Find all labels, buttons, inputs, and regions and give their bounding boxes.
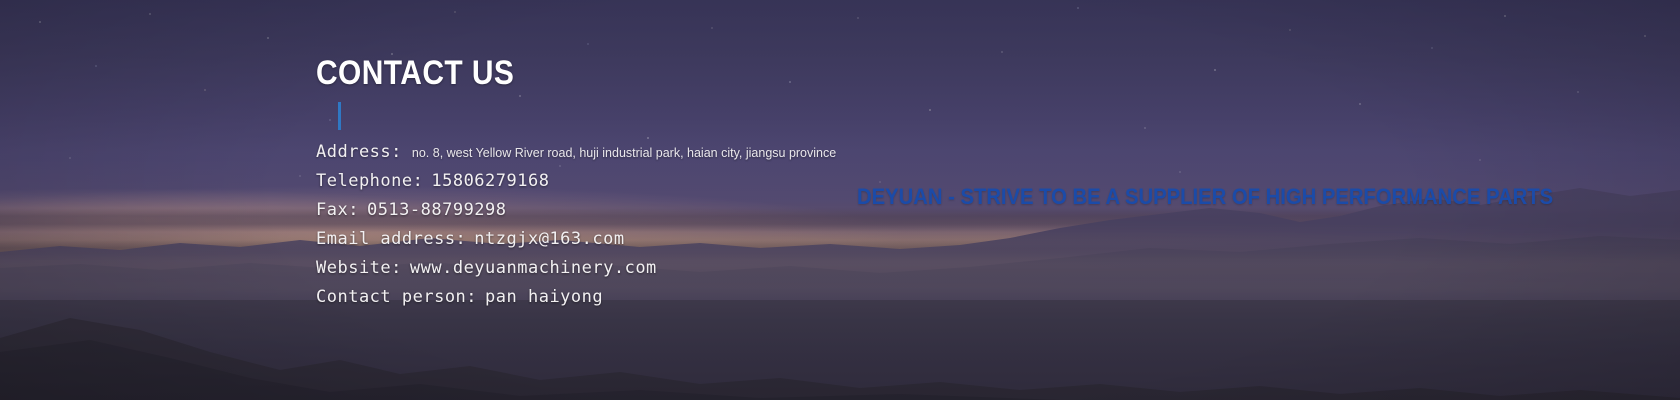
heading-block: CONTACT US	[316, 56, 541, 90]
banner-content: CONTACT US Address: no. 8, west Yellow R…	[0, 0, 1680, 400]
company-tagline: DEYUAN - STRIVE TO BE A SUPPLIER OF HIGH…	[857, 184, 1553, 210]
contact-row-telephone: Telephone: 15806279168	[316, 171, 836, 200]
email-value[interactable]: ntzgjx@163.com	[474, 229, 624, 249]
address-value: no. 8, west Yellow River road, huji indu…	[412, 146, 836, 160]
contact-row-fax: Fax: 0513-88799298	[316, 200, 836, 229]
website-label: Website:	[316, 258, 402, 278]
fax-value: 0513-88799298	[367, 200, 507, 220]
page-title: CONTACT US	[316, 56, 514, 90]
fax-label: Fax:	[316, 200, 359, 220]
contact-row-website: Website: www.deyuanmachinery.com	[316, 258, 836, 287]
address-label: Address:	[316, 142, 402, 162]
telephone-label: Telephone:	[316, 171, 423, 191]
contact-person-value: pan haiyong	[485, 287, 603, 307]
contact-row-contact-person: Contact person: pan haiyong	[316, 287, 836, 316]
contact-row-address: Address: no. 8, west Yellow River road, …	[316, 142, 836, 171]
contact-banner: CONTACT US Address: no. 8, west Yellow R…	[0, 0, 1680, 400]
contact-person-label: Contact person:	[316, 287, 477, 307]
email-label: Email address:	[316, 229, 466, 249]
telephone-value[interactable]: 15806279168	[431, 171, 549, 191]
contact-row-email: Email address: ntzgjx@163.com	[316, 229, 836, 258]
contact-info-list: Address: no. 8, west Yellow River road, …	[316, 142, 836, 316]
website-value[interactable]: www.deyuanmachinery.com	[410, 258, 657, 278]
title-accent-rule	[338, 102, 341, 130]
